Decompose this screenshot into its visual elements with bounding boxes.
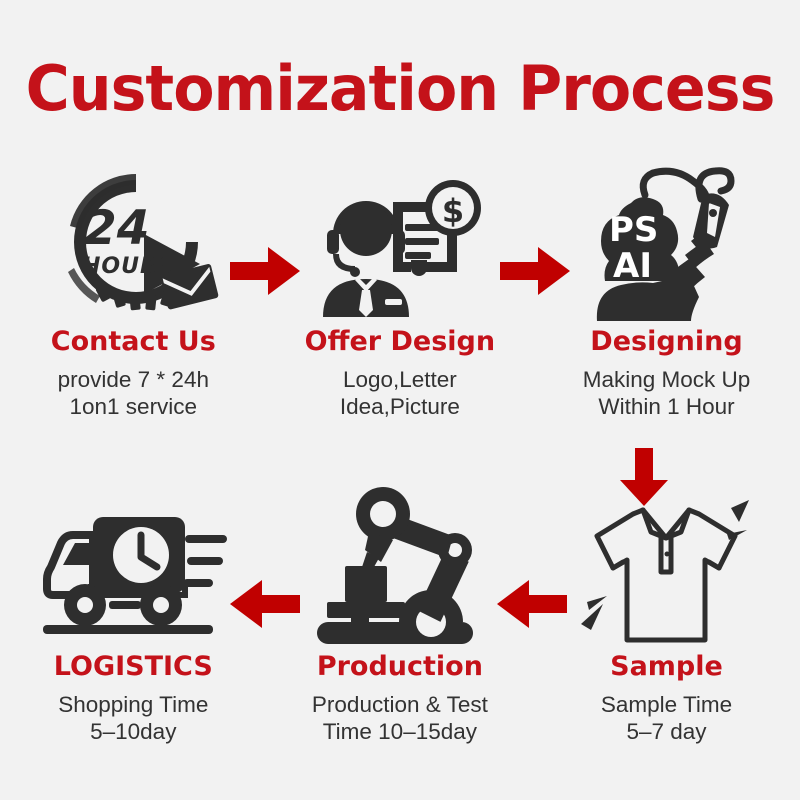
step-description-line-2: Time 10–15day [312, 718, 488, 745]
arrow-sample-to-production [495, 578, 567, 630]
page-title: Customization Process [12, 52, 788, 126]
step-logistics[interactable]: LOGISTICS Shopping Time 5–10day [0, 495, 267, 745]
polo-shirt-sample-icon [571, 495, 761, 645]
step-production[interactable]: Production Production & Test Time 10–15d… [267, 495, 534, 745]
robot-arm-production-icon [305, 495, 495, 645]
delivery-truck-clock-icon [38, 495, 228, 645]
step-designing[interactable]: PS AI Designing Making Mock Up Within 1 … [533, 170, 800, 420]
step-description-line-1: provide 7 * 24h [58, 366, 209, 393]
step-offer-design[interactable]: $ [267, 170, 534, 420]
step-sample[interactable]: Sample Sample Time 5–7 day [533, 495, 800, 745]
arrow-contact-to-offer [230, 245, 302, 297]
step-description-line-2: 5–10day [58, 718, 208, 745]
step-description-line-1: Shopping Time [58, 691, 208, 718]
step-title: LOGISTICS [54, 651, 213, 683]
step-description: Sample Time 5–7 day [601, 691, 732, 745]
process-row-top: 24 HOURS Contact Us provide 7 * 24h 1on1… [0, 170, 800, 420]
step-description: provide 7 * 24h 1on1 service [58, 366, 209, 420]
step-description-line-1: Logo,Letter [340, 366, 460, 393]
step-title: Production [317, 651, 483, 683]
24-hours-clock-envelope-icon: 24 HOURS [38, 170, 228, 320]
svg-text:AI: AI [613, 246, 652, 286]
step-title: Sample [610, 651, 723, 683]
svg-text:PS: PS [609, 210, 658, 250]
step-description-line-2: Idea,Picture [340, 393, 460, 420]
step-description-line-2: 5–7 day [601, 718, 732, 745]
step-description-line-1: Sample Time [601, 691, 732, 718]
step-description: Making Mock Up Within 1 Hour [583, 366, 751, 420]
step-description: Production & Test Time 10–15day [312, 691, 488, 745]
step-description-line-1: Making Mock Up [583, 366, 751, 393]
step-title: Offer Design [305, 326, 495, 358]
svg-text:$: $ [442, 192, 464, 230]
step-contact-us[interactable]: 24 HOURS Contact Us provide 7 * 24h 1on1… [0, 170, 267, 420]
process-row-bottom: LOGISTICS Shopping Time 5–10day [0, 495, 800, 745]
step-description: Logo,Letter Idea,Picture [340, 366, 460, 420]
step-description-line-2: Within 1 Hour [583, 393, 751, 420]
svg-text:24: 24 [84, 201, 149, 256]
support-agent-invoice-dollar-icon: $ [305, 170, 495, 320]
customization-process-infographic: Customization Process [0, 0, 800, 800]
arrow-offer-to-designing [500, 245, 572, 297]
step-title: Contact Us [51, 326, 216, 358]
arrow-designing-to-sample [618, 448, 670, 508]
step-description-line-2: 1on1 service [58, 393, 209, 420]
step-description-line-1: Production & Test [312, 691, 488, 718]
step-description: Shopping Time 5–10day [58, 691, 208, 745]
designer-pen-nib-icon: PS AI [571, 170, 761, 320]
svg-text:HOURS: HOURS [82, 254, 175, 279]
step-title: Designing [590, 326, 742, 358]
arrow-production-to-logistics [228, 578, 300, 630]
